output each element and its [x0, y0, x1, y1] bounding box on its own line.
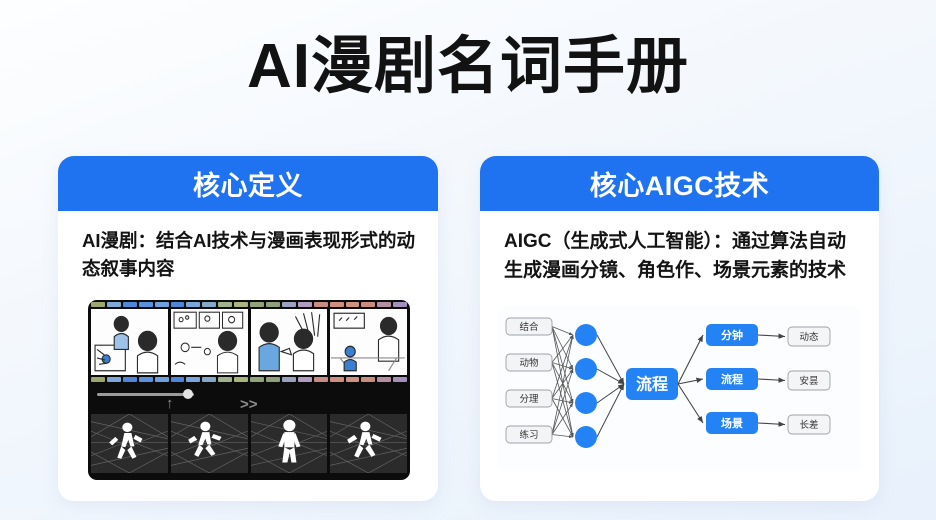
sprocket-top-cell	[202, 302, 216, 307]
fast-forward-icon[interactable]: >>	[240, 396, 258, 413]
sprocket-top-cell	[91, 302, 105, 307]
timeline-slider-knob[interactable]	[183, 389, 193, 399]
sprocket-top-cell	[266, 302, 280, 307]
flow-edge	[552, 327, 573, 404]
sprocket-top-cell	[346, 302, 360, 307]
terminal-node-label: 长差	[799, 419, 818, 431]
card-body-right: AIGC（生成式人工智能）：通过算法自动生成漫画分镜、角色作、场景元素的技术	[480, 211, 879, 286]
terminal-node-label: 安昙	[799, 375, 819, 387]
card-header-title-left: 核心定义	[193, 164, 303, 203]
sprocket-bottom-cell	[250, 377, 264, 382]
input-node-group: 结合动物分理练习	[506, 318, 552, 443]
input-node-label: 练习	[519, 429, 538, 441]
arrow-up-icon[interactable]: ↑	[166, 395, 174, 412]
storyboard-panel[interactable]	[171, 309, 248, 375]
wireframe-cell[interactable]	[91, 414, 168, 473]
output-node-label: 流程	[721, 372, 743, 386]
sprocket-top-cell	[234, 302, 248, 307]
hidden-node[interactable]	[575, 392, 597, 414]
wireframe-cell[interactable]	[171, 414, 248, 473]
storyboard-panel[interactable]	[330, 309, 407, 375]
hidden-node-group	[575, 324, 597, 448]
output-node-label: 场景	[721, 416, 743, 430]
terminal-node-group: 动态安昙长差	[788, 327, 830, 434]
sprocket-top-cell	[282, 302, 296, 307]
sprocket-bottom-cell	[314, 377, 328, 382]
sprocket-bottom-cell	[330, 377, 344, 382]
sprocket-top-cell	[107, 302, 121, 307]
card-core-aigc: 核心AIGC技术 AIGC（生成式人工智能）：通过算法自动生成漫画分镜、角色作、…	[480, 156, 879, 501]
sprocket-bottom-cell	[282, 377, 296, 382]
sprocket-bottom-cell	[202, 377, 216, 382]
edges-output-terminal	[758, 335, 785, 425]
flow-edge	[597, 384, 624, 403]
flow-edge	[758, 335, 785, 337]
sprocket-bottom-cell	[171, 377, 185, 382]
storyboard-panels	[88, 309, 410, 375]
timeline-slider-track[interactable]	[97, 393, 194, 396]
edges-input-hidden	[552, 327, 573, 438]
sprocket-bottom-cell	[91, 377, 105, 382]
sprocket-top-cell	[186, 302, 200, 307]
flow-edge	[552, 363, 573, 404]
storyboard-controls: ↑ >>	[88, 384, 410, 414]
sprocket-bottom-cell	[107, 377, 121, 382]
flow-edge	[758, 423, 785, 425]
card-header-right: 核心AIGC技术	[480, 156, 879, 211]
sprocket-top-cell	[171, 302, 185, 307]
storyboard-filmstrip: ↑ >>	[88, 300, 410, 480]
flow-edge	[758, 379, 785, 381]
sprocket-bottom-cell	[298, 377, 312, 382]
storyboard-panel[interactable]	[251, 309, 328, 375]
card-text-left: AI漫剧：结合AI技术与漫画表现形式的动态叙事内容	[82, 227, 416, 283]
sprocket-bottom-cell	[139, 377, 153, 382]
edges-hidden-center	[597, 335, 624, 437]
sprocket-top-cell	[393, 302, 407, 307]
hidden-node[interactable]	[575, 426, 597, 448]
sprocket-bottom-cell	[377, 377, 391, 382]
flow-diagram: 结合动物分理练习 流程 分钟流程场景 动态安昙长差	[498, 306, 861, 471]
sprocket-bottom-cell	[123, 377, 137, 382]
sprocket-top-cell	[123, 302, 137, 307]
edges-center-output	[678, 335, 703, 423]
sprocket-top-cell	[330, 302, 344, 307]
page-title: AI漫剧名词手册	[0, 34, 936, 101]
sprocket-top-cell	[250, 302, 264, 307]
center-node-group: 流程	[626, 368, 678, 400]
sprocket-top-cell	[218, 302, 232, 307]
input-node-label: 结合	[519, 321, 539, 333]
hidden-node[interactable]	[575, 358, 597, 380]
sprocket-bottom-cell	[186, 377, 200, 382]
sprocket-top-cell	[377, 302, 391, 307]
sprocket-bottom-cell	[346, 377, 360, 382]
sprocket-bottom-cell	[218, 377, 232, 382]
card-core-definition: 核心定义 AI漫剧：结合AI技术与漫画表现形式的动态叙事内容	[58, 156, 438, 501]
card-header-title-right: 核心AIGC技术	[590, 164, 770, 203]
card-header-left: 核心定义	[58, 156, 438, 211]
hidden-node[interactable]	[575, 324, 597, 346]
center-node-label: 流程	[636, 375, 668, 394]
flow-diagram-svg: 结合动物分理练习 流程 分钟流程场景 动态安昙长差	[498, 306, 861, 471]
sprocket-top-cell	[298, 302, 312, 307]
sprocket-top-cell	[361, 302, 375, 307]
output-node-label: 分钟	[721, 328, 743, 342]
card-body-left: AI漫剧：结合AI技术与漫画表现形式的动态叙事内容	[58, 211, 438, 283]
input-node-label: 动物	[519, 357, 539, 369]
sprocket-row-bottom	[88, 375, 410, 384]
flow-edge	[678, 335, 703, 384]
flow-edge	[552, 327, 573, 370]
card-text-right: AIGC（生成式人工智能）：通过算法自动生成漫画分镜、角色作、场景元素的技术	[504, 227, 857, 286]
sprocket-row-top	[88, 300, 410, 309]
output-node-group: 分钟流程场景	[706, 324, 758, 434]
sprocket-top-cell	[155, 302, 169, 307]
terminal-node-label: 动态	[799, 331, 819, 343]
flow-edge	[597, 384, 624, 437]
wireframe-row	[88, 414, 410, 476]
sprocket-bottom-cell	[393, 377, 407, 382]
input-node-label: 分理	[519, 394, 539, 405]
sprocket-bottom-cell	[361, 377, 375, 382]
sprocket-bottom-cell	[155, 377, 169, 382]
sprocket-top-cell	[314, 302, 328, 307]
flow-edge	[678, 379, 703, 384]
wireframe-cell[interactable]	[330, 414, 407, 473]
sprocket-bottom-cell	[234, 377, 248, 382]
storyboard-panel[interactable]	[91, 309, 168, 375]
sprocket-bottom-cell	[266, 377, 280, 382]
flow-edge	[678, 384, 703, 423]
sprocket-top-cell	[139, 302, 153, 307]
wireframe-cell[interactable]	[251, 414, 328, 473]
flow-edge	[552, 435, 573, 438]
